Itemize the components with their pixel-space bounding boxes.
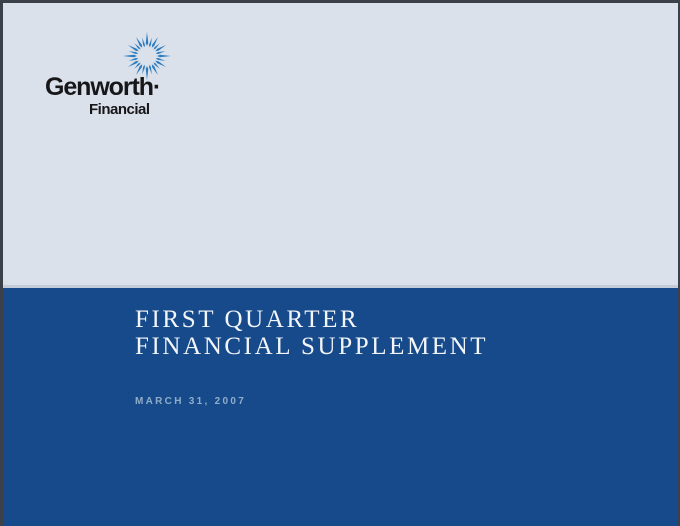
cover-top-panel: Genworth· Financial xyxy=(3,3,678,285)
brand-logo-lockup: Genworth· Financial xyxy=(45,31,215,113)
brand-name-secondary: Financial xyxy=(45,101,215,118)
cover-title-block: FIRST QUARTER FINANCIAL SUPPLEMENT MARCH… xyxy=(135,306,655,408)
brand-name-primary-text: Genworth xyxy=(45,73,153,101)
cover-page: Genworth· Financial FIRST QUARTER FINANC… xyxy=(0,0,680,526)
brand-wordmark: Genworth· Financial xyxy=(45,75,215,118)
brand-name-primary: Genworth· xyxy=(45,75,215,100)
cover-title-band: FIRST QUARTER FINANCIAL SUPPLEMENT MARCH… xyxy=(3,288,678,526)
page-title: FIRST QUARTER FINANCIAL SUPPLEMENT xyxy=(135,306,655,360)
trademark-icon: · xyxy=(153,73,161,101)
report-date: MARCH 31, 2007 xyxy=(135,360,655,408)
page-title-line-1: FIRST QUARTER xyxy=(135,306,655,333)
page-title-line-2: FINANCIAL SUPPLEMENT xyxy=(135,333,655,360)
